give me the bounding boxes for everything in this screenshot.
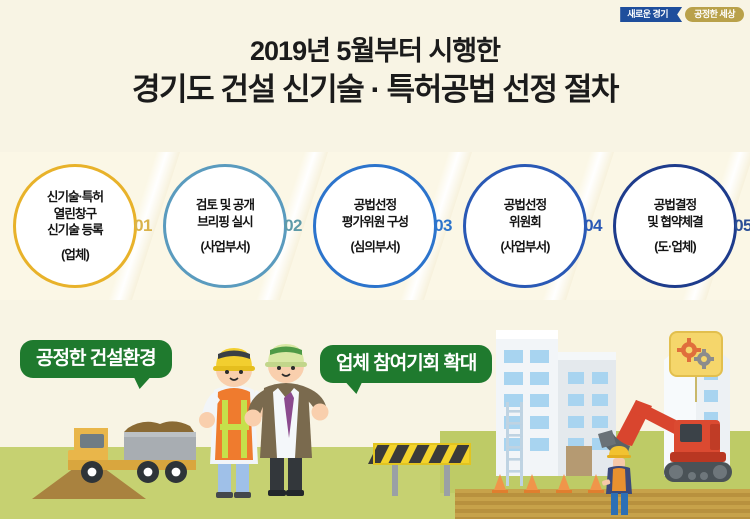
step-number-03: 03 [434, 216, 452, 236]
step-line: 열린창구 [54, 206, 96, 223]
site-worker [600, 436, 644, 516]
step-department: (사업부서) [201, 236, 250, 255]
step-line: 공법결정 [654, 197, 696, 214]
infographic-canvas: 새로운 경기 공정한 세상 2019년 5월부터 시행한 경기도 건설 신기술 … [0, 0, 750, 519]
step-line: 위원회 [509, 214, 541, 231]
step-number-04: 04 [584, 216, 602, 236]
step-line: 신기술·특허 [47, 189, 103, 206]
step-line: 및 협약체결 [647, 214, 703, 231]
step-line: 공법선정 [504, 197, 546, 214]
step-line: 공법선정 [354, 197, 396, 214]
process-step-03: 공법선정평가위원 구성(심의부서)03 [300, 152, 450, 300]
step-label-group: 공법선정평가위원 구성(심의부서) [316, 167, 434, 285]
step-department: (업체) [61, 244, 89, 263]
step-label-group: 검토 및 공개브리핑 실시(사업부서) [166, 167, 284, 285]
step-department: (심의부서) [351, 236, 400, 255]
step-department: (도·업체) [654, 236, 696, 255]
step-department: (사업부서) [501, 236, 550, 255]
bubble-expanded-participation: 업체 참여기회 확대 [320, 345, 492, 383]
badge-new-gyeonggi: 새로운 경기 [620, 7, 682, 22]
badge-fair-world: 공정한 세상 [685, 7, 744, 22]
title-line-2: 경기도 건설 신기술 · 특허공법 선정 절차 [0, 71, 750, 109]
step-number-05: 05 [734, 216, 750, 236]
road-barricade [368, 436, 476, 498]
step-line: 브리핑 실시 [197, 214, 253, 231]
bubble-fair-construction: 공정한 건설환경 [20, 340, 172, 378]
illustration-scene: 공정한 건설환경 업체 참여기회 확대 [0, 300, 750, 519]
brand-badge-bar: 새로운 경기 공정한 세상 [620, 7, 744, 22]
step-number-02: 02 [284, 216, 302, 236]
step-label-group: 공법결정및 협약체결(도·업체) [616, 167, 734, 285]
dump-truck [58, 410, 200, 492]
process-step-01: 신기술·특허열린창구신기술 등록(업체)01 [0, 152, 150, 300]
page-title: 2019년 5월부터 시행한 경기도 건설 신기술 · 특허공법 선정 절차 [0, 36, 750, 109]
process-step-04: 공법선정위원회(사업부서)04 [450, 152, 600, 300]
process-step-05: 공법결정및 협약체결(도·업체)05 [600, 152, 750, 300]
process-steps: 신기술·특허열린창구신기술 등록(업체)01검토 및 공개브리핑 실시(사업부서… [0, 152, 750, 300]
step-line: 평가위원 구성 [342, 214, 408, 231]
gear-sign [666, 328, 726, 404]
process-step-02: 검토 및 공개브리핑 실시(사업부서)02 [150, 152, 300, 300]
step-line: 검토 및 공개 [196, 197, 254, 214]
step-line: 신기술 등록 [47, 222, 103, 239]
businessman [244, 326, 330, 498]
step-label-group: 공법선정위원회(사업부서) [466, 167, 584, 285]
title-line-1: 2019년 5월부터 시행한 [0, 36, 750, 68]
step-label-group: 신기술·특허열린창구신기술 등록(업체) [16, 167, 134, 285]
step-number-01: 01 [134, 216, 152, 236]
